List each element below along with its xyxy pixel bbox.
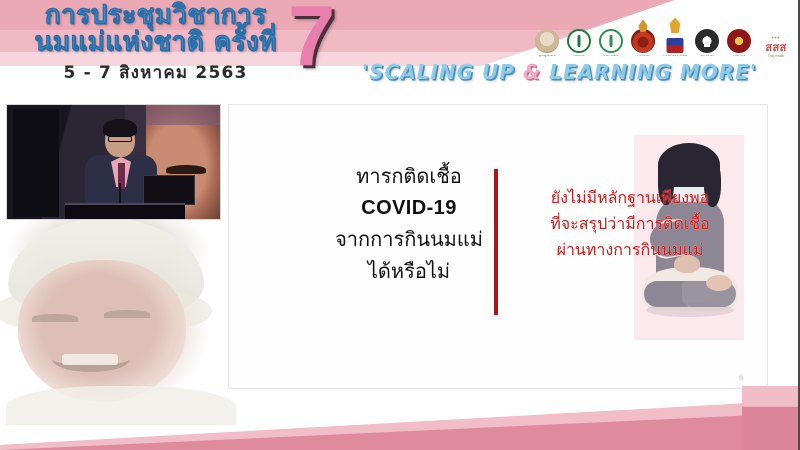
video-speaker-glasses-icon [108,136,132,142]
ministry-health-icon [567,29,591,53]
royal-crest-icon [663,29,687,53]
question-line-3: จากการกินนมแม่ [319,224,499,256]
logo-caption-1: กรมอนามัย [564,55,594,58]
conference-banner: การประชุมวิชาการ นมแม่แห่งชาติ ครั้งที่ … [0,0,800,97]
royal-college-icon [631,29,655,53]
royal-seal-logo: มูลนิธิศูนย์นมแม่ [534,18,560,58]
question-line-4: ได้หรือไม่ [319,256,499,288]
illustration-ground-shadow [646,303,734,317]
question-line-1: ทารกติดเชื้อ [319,161,499,193]
conference-date: 5 - 7 สิงหาคม 2563 [18,59,293,86]
sponsor-logo-strip: มูลนิธิศูนย์นมแม่ กรมอนามัย กรมการแพทย์ … [534,16,794,58]
red-vertical-divider [494,169,498,315]
child-face-shape [18,260,186,402]
university-seal-icon [695,29,719,53]
answer-line-2: ที่จะสรุปว่ามีการติดเชื้อ [499,211,761,237]
logo-caption-5: มหาวิทยาลัย [692,55,722,58]
thaihealth-sss-logo: ••• สสส Thai Health [758,18,794,58]
university-black-seal-logo: มหาวิทยาลัย [694,18,720,58]
answer-line-1: ยังไม่มีหลักฐานเพียงพอ [499,185,761,211]
tagline-ampersand: & [523,60,541,84]
video-microphone-icon [119,183,121,205]
answer-line-3: ผ่านทางการกินนมแม่ [499,237,761,263]
conference-title: การประชุมวิชาการ นมแม่แห่งชาติ ครั้งที่ … [18,2,293,86]
video-speaker-hair [103,119,137,137]
conference-tagline: 'SCALING UP & LEARNING MORE' [362,60,757,84]
child-right-eye [104,310,150,318]
question-text-block: ทารกติดเชื้อ COVID-19 จากการกินนมแม่ ได้… [319,161,499,287]
question-line-2: COVID-19 [319,193,499,225]
video-dark-panel-left [13,109,59,217]
logo-caption-3: ราชวิทยาลัย [628,55,658,58]
webinar-speaker-video[interactable] [6,104,221,220]
department-health-icon [599,29,623,53]
edition-number: 7 [288,0,335,79]
video-podium [65,203,185,220]
royal-crest-logo: ราชวิทยาลัยกุมารแพทย์ [662,18,688,58]
tagline-suffix: LEARNING MORE' [541,60,757,84]
answer-text-block: ยังไม่มีหลักฐานเพียงพอ ที่จะสรุปว่ามีการ… [499,185,761,263]
sss-logo-subtext: Thai Health [768,54,784,58]
logo-caption-6: โรงพยาบาล [724,55,754,58]
royal-college-red-logo: ราชวิทยาลัย [630,18,656,58]
hospital-seal-icon [727,29,751,53]
child-left-eye [32,314,78,322]
video-baby-hair [146,105,220,125]
hospital-red-seal-logo: โรงพยาบาล [726,18,752,58]
video-laptop-icon [143,175,195,205]
child-teeth-shape [62,354,118,365]
ministry-health-green-logo: กรมอนามัย [566,18,592,58]
department-health-green-logo: กรมการแพทย์ [598,18,624,58]
slide-page-number: 6 [739,373,743,382]
slide-content-card: ทารกติดเชื้อ COVID-19 จากการกินนมแม่ ได้… [228,104,768,389]
illustration-foot [706,275,732,291]
logo-caption-0: มูลนิธิศูนย์นมแม่ [532,55,562,58]
royal-seal-icon [535,29,559,53]
logo-caption-4: ราชวิทยาลัยกุมารแพทย์ [660,55,690,58]
sss-logo-text: สสส [765,42,786,53]
presentation-slide: การประชุมวิชาการ นมแม่แห่งชาติ ครั้งที่ … [0,0,800,450]
bottom-right-pink-block [742,386,800,450]
video-baby-eye [166,165,206,174]
bottom-decorative-bands [0,386,800,450]
conference-title-line-1: การประชุมวิชาการ [18,2,293,28]
conference-title-line-2: นมแม่แห่งชาติ ครั้งที่ [18,29,293,55]
tagline-prefix: 'SCALING UP [362,60,523,84]
logo-caption-2: กรมการแพทย์ [596,55,626,58]
